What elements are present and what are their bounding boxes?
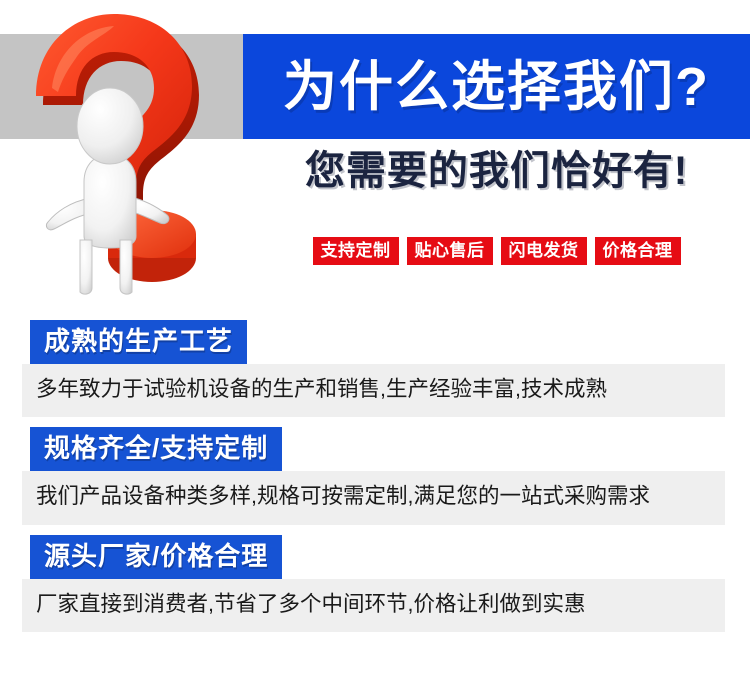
promo-banner: 为什么选择我们?	[0, 0, 750, 300]
banner-subtitle-text: 您需要的我们恰好有!	[305, 149, 688, 193]
page-title: 为什么选择我们?	[283, 60, 710, 114]
feature-item-production-process: 成熟的生产工艺 多年致力于试验机设备的生产和销售,生产经验丰富,技术成熟	[0, 320, 750, 417]
badge-row: 支持定制 贴心售后 闪电发货 价格合理	[243, 237, 750, 265]
banner-subtitle: 您需要的我们恰好有!	[243, 150, 750, 192]
badge-fair-price: 价格合理	[595, 237, 681, 265]
feature-body: 多年致力于试验机设备的生产和销售,生产经验丰富,技术成熟	[22, 364, 725, 417]
feature-body: 厂家直接到消费者,节省了多个中间环节,价格让利做到实惠	[22, 579, 725, 632]
feature-heading: 规格齐全/支持定制	[30, 427, 282, 471]
question-mark-dot	[108, 210, 196, 282]
feature-body: 我们产品设备种类多样,规格可按需定制,满足您的一站式采购需求	[22, 471, 725, 524]
feature-item-source-factory-fair-price: 源头厂家/价格合理 厂家直接到消费者,节省了多个中间环节,价格让利做到实惠	[0, 535, 750, 632]
badge-support-customization: 支持定制	[313, 237, 399, 265]
feature-heading: 成熟的生产工艺	[30, 320, 247, 364]
title-band: 为什么选择我们?	[243, 34, 750, 139]
feature-heading: 源头厂家/价格合理	[30, 535, 282, 579]
grey-band	[0, 34, 243, 139]
badge-fast-shipping: 闪电发货	[501, 237, 587, 265]
feature-item-full-specs-customization: 规格齐全/支持定制 我们产品设备种类多样,规格可按需定制,满足您的一站式采购需求	[0, 427, 750, 524]
feature-list: 成熟的生产工艺 多年致力于试验机设备的生产和销售,生产经验丰富,技术成熟 规格齐…	[0, 320, 750, 642]
badge-after-sales: 贴心售后	[407, 237, 493, 265]
